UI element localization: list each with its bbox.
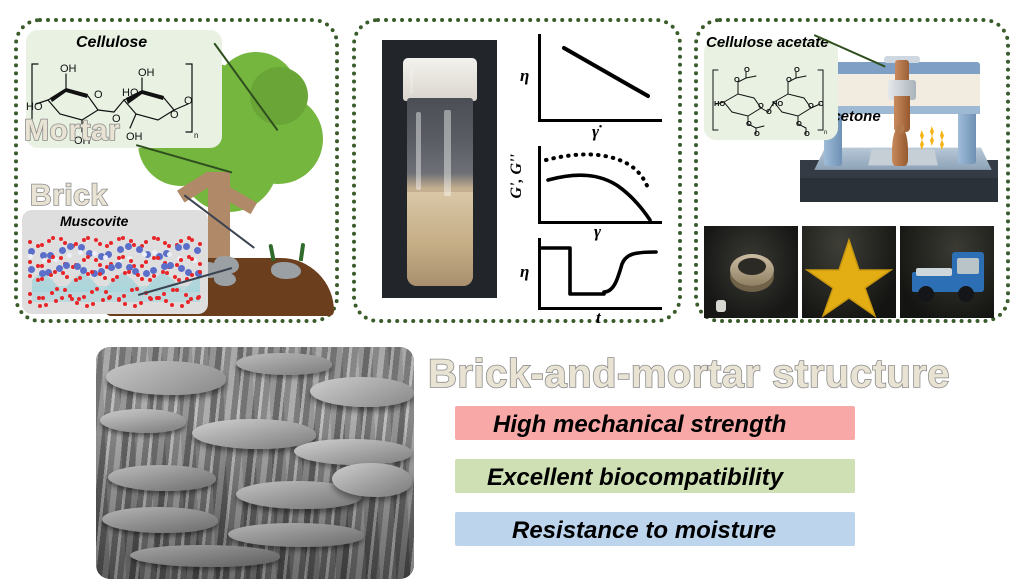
plot3-ylabel: η — [520, 262, 529, 282]
ink-vial-photo — [382, 40, 497, 298]
lattice-atom — [86, 255, 90, 259]
lattice-atom — [170, 303, 174, 307]
lattice-atom — [60, 296, 64, 300]
lattice-atom — [44, 303, 48, 307]
muscovite-structure-box: Muscovite {} — [22, 210, 208, 314]
svg-text:O: O — [796, 119, 802, 128]
lattice-atom — [144, 240, 148, 244]
lattice-atom — [104, 290, 108, 294]
lattice-atom — [167, 244, 171, 248]
cellulose-title: Cellulose — [76, 34, 147, 52]
plot2-ylabel: G', G'' — [508, 154, 526, 198]
lattice-atom — [74, 278, 78, 282]
label-brick: Brick — [30, 179, 108, 213]
svg-text:OH: OH — [126, 131, 143, 143]
bottom-title: Brick-and-mortar structure — [428, 352, 950, 397]
lattice-atom — [140, 264, 144, 268]
svg-text:O: O — [786, 75, 792, 84]
lattice-atom — [91, 302, 95, 306]
lattice-atom — [148, 278, 152, 282]
lattice-atom — [28, 292, 32, 296]
lattice-atom — [90, 290, 94, 294]
grass-blade — [299, 243, 305, 261]
lattice-atom — [162, 292, 166, 296]
printed-truck-photo — [900, 226, 994, 318]
banner-text-1: High mechanical strength — [493, 411, 786, 439]
lattice-atom — [156, 237, 160, 241]
lattice-atom — [183, 243, 190, 250]
lattice-atom — [92, 251, 97, 256]
lattice-atom — [144, 260, 148, 264]
lattice-atom — [143, 270, 150, 277]
svg-text:O: O — [766, 107, 772, 116]
lattice-atom — [63, 262, 70, 269]
lattice-atom — [98, 263, 102, 267]
svg-text:HO: HO — [122, 87, 139, 99]
lattice-atom — [103, 255, 108, 260]
lattice-atom — [40, 264, 44, 268]
lattice-atom — [180, 304, 184, 308]
lattice-atom — [28, 274, 32, 278]
label-mortar: Mortar — [24, 114, 120, 148]
cellulose-acetate-structure-box: HO O O O O O O HO O O O O O O n Cellul — [704, 40, 838, 140]
lattice-atom — [94, 258, 98, 262]
lattice-atom — [198, 262, 202, 266]
lattice-atom — [55, 287, 59, 291]
svg-text:OH: OH — [60, 63, 77, 75]
lattice-atom — [167, 262, 174, 269]
lattice-atom — [65, 275, 69, 279]
evaporation-wave-icon — [930, 126, 934, 146]
cellulose-acetate-title: Cellulose acetate — [706, 34, 829, 51]
svg-text:HO: HO — [714, 99, 725, 108]
svg-text:OH: OH — [138, 67, 155, 79]
printed-star-photo — [802, 226, 896, 318]
muscovite-title: Muscovite — [60, 213, 128, 229]
lattice-atom — [86, 236, 90, 240]
lattice-atom — [70, 297, 74, 301]
plot3-xlabel: t — [596, 308, 601, 328]
svg-text:O: O — [808, 101, 814, 110]
lattice-atom — [152, 274, 156, 278]
lattice-atom — [28, 240, 32, 244]
lattice-atom — [198, 270, 202, 274]
lattice-atom — [139, 301, 143, 305]
plot-amplitude-sweep: G', G'' γ — [538, 146, 662, 224]
lattice-atom — [133, 304, 137, 308]
lattice-atom — [98, 272, 102, 276]
lattice-atom — [59, 247, 66, 254]
lattice-atom — [121, 236, 125, 240]
lattice-atom — [179, 258, 183, 262]
svg-text:O: O — [754, 129, 760, 138]
lattice-atom — [67, 243, 74, 250]
lattice-atom — [94, 238, 98, 242]
printed-ring-photo — [704, 226, 798, 318]
lattice-atom — [164, 299, 168, 303]
rock — [214, 272, 236, 286]
lattice-atom — [149, 297, 153, 301]
lattice-atom — [186, 300, 190, 304]
lattice-atom — [111, 278, 115, 282]
lattice-atom — [122, 294, 126, 298]
graphical-abstract: Cellulose — [0, 0, 1024, 587]
vial-cap — [403, 58, 477, 101]
lattice-atom — [78, 250, 83, 255]
lattice-atom — [59, 256, 63, 260]
svg-text:O: O — [184, 95, 193, 107]
lattice-atom — [28, 260, 32, 264]
svg-text:O: O — [746, 119, 752, 128]
lattice-atom — [51, 236, 55, 240]
svg-text:O: O — [94, 89, 103, 101]
rock — [271, 262, 301, 279]
banner-text-2: Excellent biocompatibility — [487, 464, 783, 492]
lattice-atom — [179, 239, 183, 243]
muscovite-lattice: {} — [28, 236, 202, 308]
lattice-atom — [190, 273, 194, 277]
lattice-atom — [142, 252, 147, 257]
lattice-atom — [194, 247, 201, 254]
lattice-atom — [103, 276, 107, 280]
lattice-atom — [98, 242, 102, 246]
lattice-atom — [129, 259, 133, 263]
lattice-atom — [171, 288, 175, 292]
svg-text:O: O — [170, 109, 179, 121]
lattice-atom — [109, 241, 113, 245]
svg-text:O: O — [758, 101, 764, 110]
svg-text:O: O — [744, 65, 750, 74]
vial-suspension — [407, 192, 473, 286]
plot1-ylabel: η — [520, 66, 529, 86]
banner-text-3: Resistance to moisture — [512, 517, 776, 545]
sem-cross-section-image — [96, 347, 414, 579]
lattice-atom — [47, 239, 51, 243]
lattice-atom — [40, 243, 44, 247]
lattice-atom — [136, 273, 140, 277]
svg-text:HO: HO — [772, 99, 783, 108]
plot1-xlabel: γ̇ — [592, 122, 599, 142]
lattice-atom — [49, 273, 53, 277]
cellulose-acetate-skeletal-formula: HO O O O O O O HO O O O O O O n — [706, 64, 840, 138]
svg-text:O: O — [804, 129, 810, 138]
svg-text:HO: HO — [26, 101, 43, 113]
lattice-atom — [59, 237, 63, 241]
panel-printing: acetone HO — [694, 18, 1010, 323]
panel-natural-analogy: Cellulose — [14, 18, 339, 323]
lattice-atom — [75, 301, 79, 305]
lattice-atom — [156, 256, 160, 260]
lattice-atom — [123, 302, 127, 306]
lattice-atom — [67, 253, 72, 258]
lattice-atom — [115, 262, 122, 269]
svg-text:n: n — [824, 130, 827, 136]
plot-flow-curve: η γ̇ — [538, 34, 662, 122]
lattice-atom — [165, 271, 169, 275]
plot-thixotropy: η t — [538, 238, 662, 310]
lattice-atom — [82, 295, 86, 299]
lattice-atom — [28, 300, 32, 304]
lattice-atom — [38, 304, 42, 308]
lattice-atom — [167, 252, 172, 257]
lattice-atom — [121, 255, 125, 259]
lattice-atom — [53, 270, 57, 274]
lattice-atom — [155, 296, 159, 300]
lattice-atom — [198, 242, 202, 246]
lattice-atom — [117, 246, 124, 253]
svg-text:O: O — [794, 65, 800, 74]
svg-text:O: O — [734, 75, 740, 84]
lattice-atom — [178, 265, 185, 272]
lattice-atom — [85, 304, 89, 308]
lattice-atom — [28, 254, 33, 259]
lattice-atom — [54, 299, 58, 303]
lattice-atom — [28, 266, 35, 273]
lattice-atom — [127, 270, 131, 274]
lattice-atom — [190, 238, 194, 242]
svg-text:O: O — [818, 99, 824, 108]
svg-text:n: n — [194, 131, 198, 140]
lattice-atom — [184, 293, 188, 297]
lattice-atom — [140, 277, 144, 281]
lattice-atom — [47, 259, 51, 263]
lattice-atom — [61, 271, 65, 275]
lattice-atom — [175, 244, 182, 251]
lattice-atom — [95, 287, 99, 291]
lattice-atom — [125, 243, 132, 250]
